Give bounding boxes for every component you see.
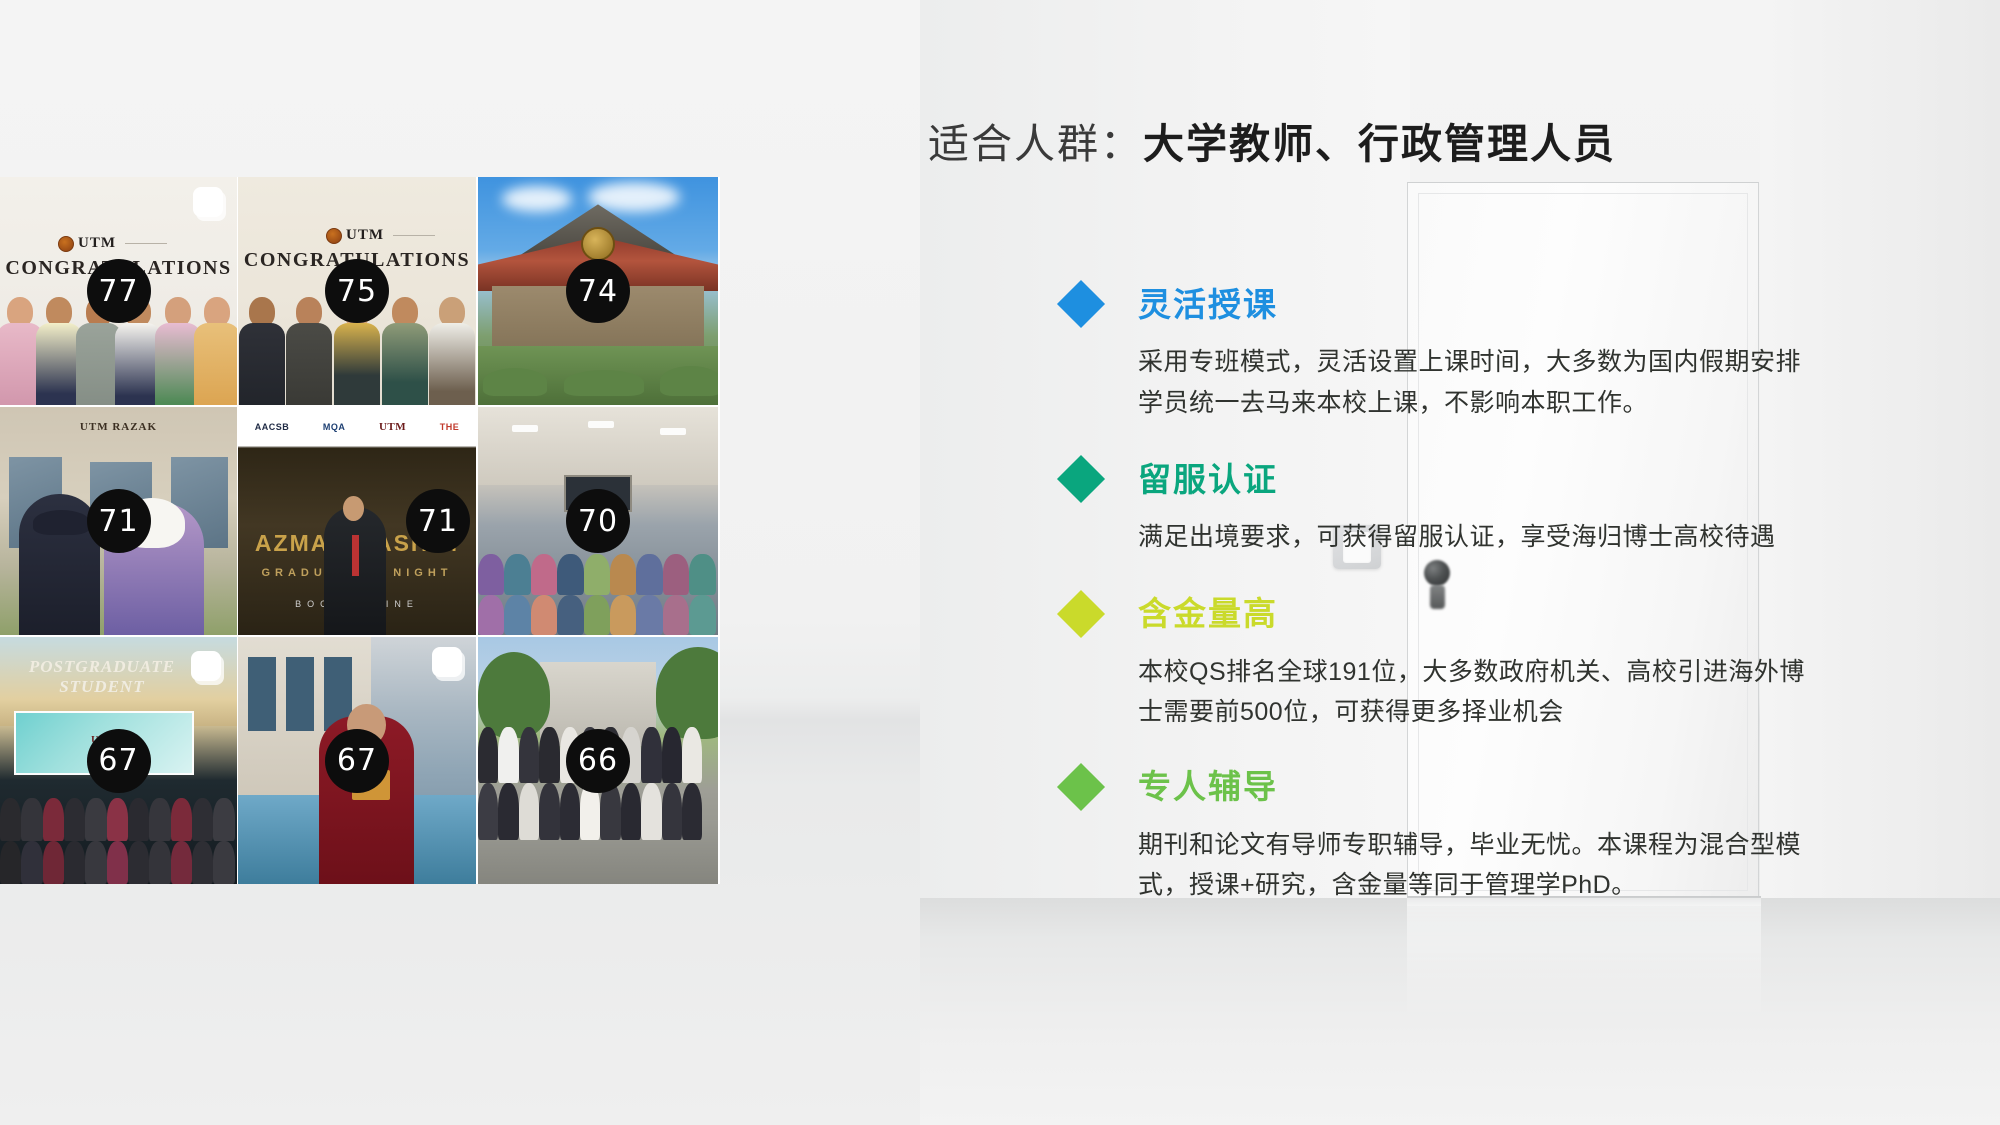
postgraduate-banner: POSTGRADUATE STUDENT <box>9 657 194 697</box>
person <box>0 291 40 405</box>
photo-badge: 71 <box>406 489 470 553</box>
utm-wordmark: UTM <box>78 235 116 252</box>
the-logo: THE <box>440 422 460 432</box>
feature-body-1: 采用专班模式，灵活设置上课时间，大多数为国内假期安排学员统一去马来本校上课，不影… <box>1138 342 1820 423</box>
image-chip-icon <box>193 187 223 217</box>
feature-body-3: 本校QS排名全球191位，大多数政府机关、高校引进海外博士需要前500位，可获得… <box>1138 652 1820 733</box>
diamond-icon <box>1057 455 1105 503</box>
feature-heading-2: 留服认证 <box>1138 463 1278 496</box>
person <box>198 291 238 405</box>
page-title-prefix: 适合人群： <box>928 121 1143 167</box>
photo-tile-4[interactable]: UTM RAZAK 71 <box>0 407 237 635</box>
photo-tile-8[interactable]: 67 <box>238 637 476 884</box>
photo-badge: 67 <box>325 729 389 793</box>
mqa-logo: MQA <box>323 422 346 432</box>
photo-tile-2[interactable]: UTM CONGRATULATIONS 75 <box>238 177 476 405</box>
photo-badge: 70 <box>566 489 630 553</box>
feature-list: 灵活授课 采用专班模式，灵活设置上课时间，大多数为国内假期安排学员统一去马来本校… <box>1060 278 1820 934</box>
feature-header-4: 专人辅导 <box>1060 761 1820 813</box>
utm-rule <box>125 243 167 244</box>
person <box>238 291 286 405</box>
photo-tile-5[interactable]: AACSB MQA UTM THE AZMAN HASHIM IBS GRADU… <box>238 407 476 635</box>
photo-badge: 67 <box>87 729 151 793</box>
image-chip-icon <box>432 647 462 677</box>
photo-grid: UTM CONGRATULATIONS 77 <box>0 177 720 884</box>
utm-seal-icon <box>326 228 342 244</box>
utm-logo: UTM <box>379 421 406 433</box>
page-title-emphasis: 大学教师、行政管理人员 <box>1143 121 1616 167</box>
person <box>428 291 476 405</box>
slide-canvas: 适合人群：大学教师、行政管理人员 灵活授课 采用专班模式，灵活设置上课时间，大多… <box>0 0 2000 1125</box>
photo-badge: 75 <box>325 259 389 323</box>
utm-wordmark: UTM <box>346 227 384 244</box>
photo-badge: 71 <box>87 489 151 553</box>
utm-logo: UTM <box>58 235 167 252</box>
feature-item-3: 含金量高 本校QS排名全球191位，大多数政府机关、高校引进海外博士需要前500… <box>1060 588 1820 733</box>
feature-header-2: 留服认证 <box>1060 453 1820 505</box>
feature-item-4: 专人辅导 期刊和论文有导师专职辅导，毕业无忧。本课程为混合型模式，授课+研究，含… <box>1060 761 1820 906</box>
accreditation-logos: AACSB MQA UTM THE <box>238 409 476 445</box>
feature-body-2: 满足出境要求，可获得留服认证，享受海归博士高校待遇 <box>1138 517 1820 558</box>
photo-tile-1[interactable]: UTM CONGRATULATIONS 77 <box>0 177 237 405</box>
feature-heading-4: 专人辅导 <box>1138 770 1278 803</box>
beret-icon <box>33 510 90 535</box>
feature-header-1: 灵活授课 <box>1060 278 1820 330</box>
photo-badge: 66 <box>566 729 630 793</box>
utm-rule <box>393 235 435 236</box>
feature-heading-3: 含金量高 <box>1138 597 1278 630</box>
utm-seal-icon <box>58 236 74 252</box>
feature-heading-1: 灵活授课 <box>1138 288 1278 321</box>
razak-sign: UTM RAZAK <box>0 421 237 433</box>
image-chip-icon <box>191 651 221 681</box>
feature-header-3: 含金量高 <box>1060 588 1820 640</box>
diamond-icon <box>1057 762 1105 810</box>
aacsb-logo: AACSB <box>255 422 290 432</box>
feature-item-1: 灵活授课 采用专班模式，灵活设置上课时间，大多数为国内假期安排学员统一去马来本校… <box>1060 278 1820 423</box>
person-head <box>343 496 364 521</box>
photo-tile-9[interactable]: 66 <box>478 637 718 884</box>
feature-body-4: 期刊和论文有导师专职辅导，毕业无忧。本课程为混合型模式，授课+研究，含金量等同于… <box>1138 825 1820 906</box>
person <box>40 291 80 405</box>
photo-tile-7[interactable]: POSTGRADUATE STUDENT UTM <box>0 637 237 884</box>
crest-icon <box>581 227 615 261</box>
photo-badge: 77 <box>87 259 151 323</box>
photo-tile-3[interactable]: 74 <box>478 177 718 405</box>
utm-logo: UTM <box>326 227 435 244</box>
necktie <box>352 535 359 576</box>
photo-badge: 74 <box>566 259 630 323</box>
person <box>158 291 198 405</box>
person <box>286 291 334 405</box>
page-title: 适合人群：大学教师、行政管理人员 <box>928 110 1928 170</box>
feature-item-2: 留服认证 满足出境要求，可获得留服认证，享受海归博士高校待遇 <box>1060 453 1820 558</box>
diamond-icon <box>1057 589 1105 637</box>
photo-tile-6[interactable]: 70 <box>478 407 718 635</box>
person <box>381 291 429 405</box>
ceiling <box>478 407 718 485</box>
diamond-icon <box>1057 280 1105 328</box>
